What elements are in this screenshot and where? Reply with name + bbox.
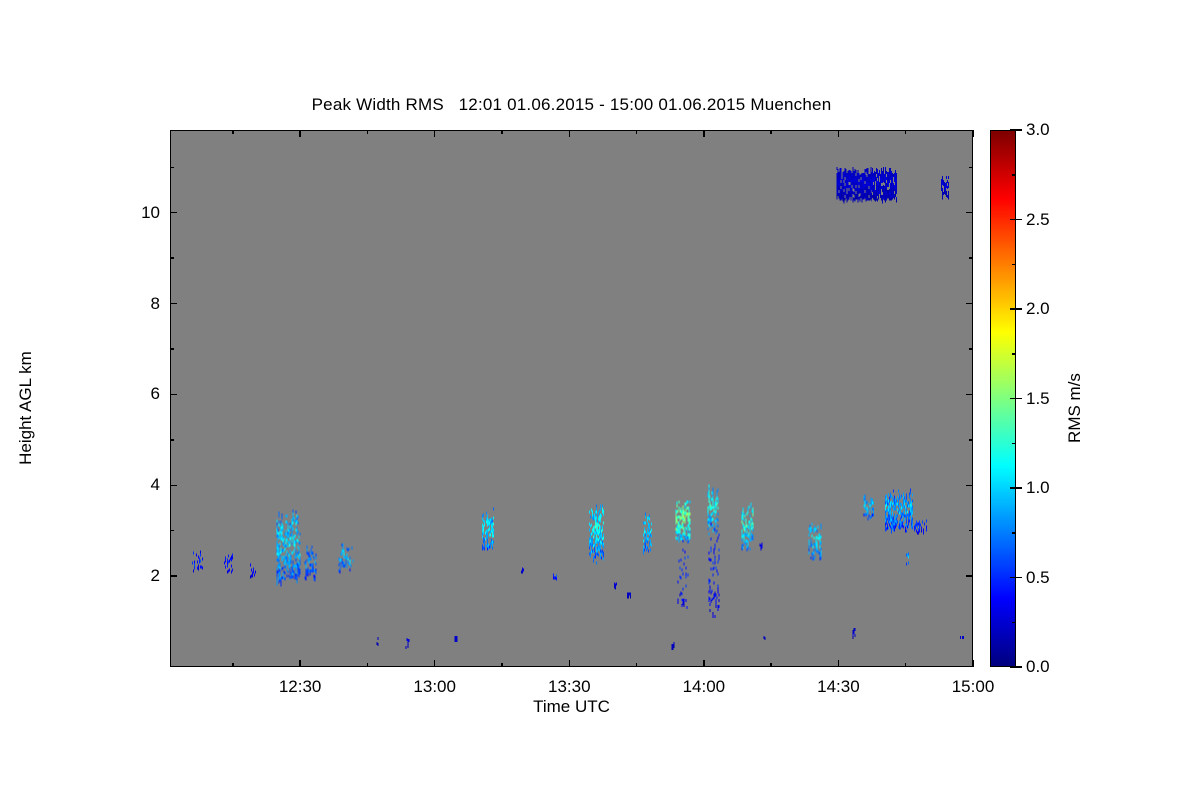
- y-tick-label: 2: [110, 566, 160, 586]
- x-tick-major: [972, 660, 974, 667]
- colorbar-tick: [1016, 666, 1022, 668]
- x-tick-minor: [367, 663, 369, 667]
- x-tick-major: [434, 660, 436, 667]
- colorbar-tick-label: 3.0: [1026, 120, 1050, 140]
- x-tick-label: 15:00: [952, 677, 995, 697]
- page-title: Peak Width RMS 12:01 01.06.2015 - 15:00 …: [170, 95, 973, 115]
- x-tick-major: [703, 130, 705, 137]
- colorbar-tick-inner: [1010, 129, 1016, 131]
- y-tick-minor: [170, 530, 174, 532]
- x-tick-minor: [232, 130, 234, 134]
- colorbar-tick-minor: [1012, 443, 1016, 445]
- x-tick-major: [299, 660, 301, 667]
- colorbar-tick-label: 0.0: [1026, 657, 1050, 677]
- x-tick-major: [569, 130, 571, 137]
- y-tick-minor: [969, 348, 973, 350]
- heatmap-data-layer: [171, 131, 972, 666]
- colorbar-tick-label: 2.5: [1026, 210, 1050, 230]
- x-tick-minor: [905, 130, 907, 134]
- colorbar-tick: [1016, 308, 1022, 310]
- x-tick-label: 13:30: [548, 677, 591, 697]
- y-tick-major: [170, 212, 177, 214]
- x-tick-minor: [501, 130, 503, 134]
- x-tick-label: 14:30: [817, 677, 860, 697]
- colorbar-tick-minor: [1012, 353, 1016, 355]
- y-tick-label: 8: [110, 294, 160, 314]
- x-tick-label: 14:00: [683, 677, 726, 697]
- colorbar-tick-inner: [1010, 398, 1016, 400]
- x-tick-minor: [770, 130, 772, 134]
- y-tick-label: 10: [110, 203, 160, 223]
- colorbar-tick: [1016, 398, 1022, 400]
- y-tick-minor: [170, 167, 174, 169]
- colorbar-tick: [1016, 487, 1022, 489]
- y-tick-major: [170, 394, 177, 396]
- colorbar-tick-minor: [1012, 264, 1016, 266]
- colorbar-tick-minor: [1012, 622, 1016, 624]
- x-tick-label: 13:00: [413, 677, 456, 697]
- y-tick-minor: [170, 257, 174, 259]
- x-tick-minor: [770, 663, 772, 667]
- x-tick-minor: [367, 130, 369, 134]
- colorbar-tick-label: 0.5: [1026, 568, 1050, 588]
- colorbar-tick-label: 2.0: [1026, 299, 1050, 319]
- y-tick-major: [966, 485, 973, 487]
- x-tick-minor: [905, 663, 907, 667]
- x-tick-minor: [501, 663, 503, 667]
- colorbar-tick-minor: [1012, 174, 1016, 176]
- colorbar-tick: [1016, 129, 1022, 131]
- colorbar-tick-inner: [1010, 666, 1016, 668]
- y-tick-major: [170, 575, 177, 577]
- x-tick-minor: [636, 130, 638, 134]
- plot-area[interactable]: [170, 130, 973, 667]
- y-tick-major: [170, 485, 177, 487]
- y-tick-minor: [969, 257, 973, 259]
- colorbar-tick: [1016, 219, 1022, 221]
- colorbar-tick-inner: [1010, 308, 1016, 310]
- y-tick-minor: [969, 530, 973, 532]
- y-tick-label: 6: [110, 384, 160, 404]
- x-tick-minor: [232, 663, 234, 667]
- colorbar-label: RMS m/s: [1065, 308, 1085, 508]
- y-tick-minor: [969, 167, 973, 169]
- figure-canvas: Peak Width RMS 12:01 01.06.2015 - 15:00 …: [0, 0, 1200, 800]
- colorbar-tick-inner: [1010, 577, 1016, 579]
- x-tick-minor: [636, 663, 638, 667]
- colorbar-tick: [1016, 577, 1022, 579]
- y-axis-label: Height AGL km: [16, 308, 36, 508]
- y-tick-minor: [170, 348, 174, 350]
- x-tick-major: [838, 660, 840, 667]
- y-tick-major: [966, 575, 973, 577]
- y-tick-label: 4: [110, 475, 160, 495]
- colorbar-tick-inner: [1010, 487, 1016, 489]
- colorbar-tick-label: 1.5: [1026, 389, 1050, 409]
- x-tick-major: [838, 130, 840, 137]
- x-tick-major: [972, 130, 974, 137]
- x-tick-major: [703, 660, 705, 667]
- y-tick-major: [966, 394, 973, 396]
- y-tick-minor: [969, 439, 973, 441]
- y-tick-major: [966, 303, 973, 305]
- x-tick-major: [299, 130, 301, 137]
- y-tick-major: [966, 212, 973, 214]
- x-tick-major: [569, 660, 571, 667]
- x-tick-label: 12:30: [279, 677, 322, 697]
- colorbar-tick-minor: [1012, 532, 1016, 534]
- y-tick-minor: [170, 439, 174, 441]
- y-tick-major: [170, 303, 177, 305]
- x-axis-label: Time UTC: [170, 697, 973, 717]
- x-tick-major: [434, 130, 436, 137]
- colorbar-tick-inner: [1010, 219, 1016, 221]
- colorbar-tick-label: 1.0: [1026, 478, 1050, 498]
